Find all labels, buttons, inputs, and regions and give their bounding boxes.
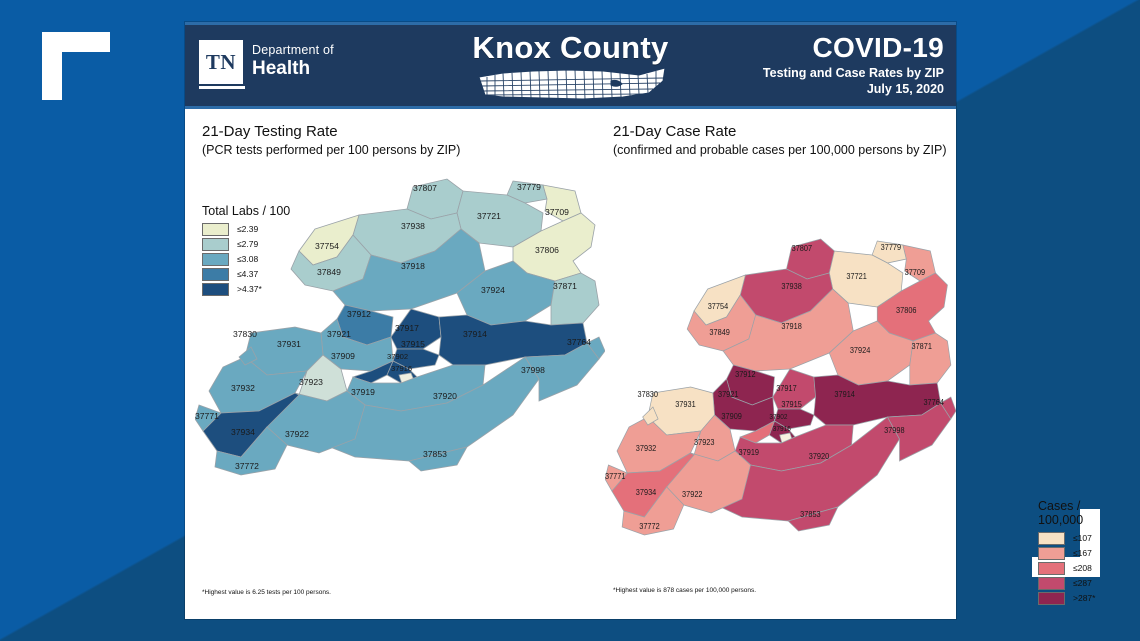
zip-label-37772: 37772 — [639, 521, 660, 531]
zip-label-37938: 37938 — [781, 281, 802, 291]
zip-label-37921: 37921 — [327, 329, 351, 339]
legend-item: >287* — [1038, 592, 1095, 605]
case-rate-title: 21-Day Case Rate — [613, 123, 958, 142]
zip-label-37779: 37779 — [517, 182, 541, 192]
zip-label-37923: 37923 — [299, 377, 323, 387]
logo-wordmark: Department of Health — [252, 44, 334, 79]
zip-label-37932: 37932 — [636, 443, 657, 453]
logo-department-line: Department of — [252, 44, 334, 58]
zip-label-37915: 37915 — [781, 399, 802, 409]
zip-label-37709: 37709 — [905, 267, 926, 277]
legend-label-4: >287* — [1073, 594, 1095, 603]
covid-title: COVID-19 — [763, 34, 944, 62]
zip-label-37849: 37849 — [317, 267, 341, 277]
zip-label-37921: 37921 — [718, 389, 739, 399]
tn-dept-health-logo: TN Department of Health — [199, 40, 334, 84]
legend-label-3: ≤287 — [1073, 579, 1092, 588]
zip-label-37849: 37849 — [709, 327, 730, 337]
zip-label-37772: 37772 — [235, 461, 259, 471]
legend-label-2: ≤208 — [1073, 564, 1092, 573]
legend-item: ≤208 — [1038, 562, 1095, 575]
zip-label-37807: 37807 — [413, 183, 437, 193]
logo-health-line: Health — [252, 59, 334, 79]
covid-subtitle: Testing and Case Rates by ZIP — [763, 66, 944, 82]
zip-label-37764: 37764 — [567, 337, 591, 347]
zip-label-37754: 37754 — [708, 301, 729, 311]
tn-logo-mark-icon: TN — [199, 40, 243, 84]
testing-rate-title: 21-Day Testing Rate — [202, 123, 592, 142]
zip-label-37806: 37806 — [535, 245, 559, 255]
case-rate-choropleth-map: 37807 37779 37709 37721 37806 37938 3775… — [605, 229, 956, 559]
zip-label-37771: 37771 — [605, 471, 626, 481]
zip-label-37771: 37771 — [195, 411, 219, 421]
zip-label-37932: 37932 — [231, 383, 255, 393]
testing-rate-titles: 21-Day Testing Rate (PCR tests performed… — [202, 123, 592, 158]
zip-label-37923: 37923 — [694, 437, 715, 447]
zip-label-37938: 37938 — [401, 221, 425, 231]
zip-label-37918: 37918 — [401, 261, 425, 271]
report-date: July 15, 2020 — [763, 82, 944, 98]
zip-label-37924: 37924 — [481, 285, 505, 295]
zip-label-37931: 37931 — [277, 339, 301, 349]
legend-item: ≤107 — [1038, 532, 1095, 545]
zip-label-37764: 37764 — [923, 397, 944, 407]
zip-label-37914: 37914 — [834, 389, 855, 399]
zip-label-37917: 37917 — [395, 323, 419, 333]
zip-label-37902: 37902 — [769, 414, 787, 422]
zip-label-37853: 37853 — [423, 449, 447, 459]
tn-logo-text: TN — [206, 52, 236, 73]
poster-header: TN Department of Health Knox County — [185, 22, 956, 109]
zip-label-37871: 37871 — [553, 281, 577, 291]
zip-label-37721: 37721 — [846, 271, 867, 281]
zip-label-37934: 37934 — [636, 487, 657, 497]
legend-item: ≤167 — [1038, 547, 1095, 560]
zip-label-37924: 37924 — [850, 345, 871, 355]
zip-label-37916: 37916 — [391, 364, 412, 373]
legend-swatch-4 — [1038, 592, 1065, 605]
testing-rate-footnote: *Highest value is 6.25 tests per 100 per… — [202, 589, 331, 596]
zip-label-37830: 37830 — [233, 329, 257, 339]
case-rate-footnote: *Highest value is 878 cases per 100,000 … — [613, 587, 756, 594]
zip-label-37998: 37998 — [521, 365, 545, 375]
zip-label-37919: 37919 — [351, 387, 375, 397]
case-legend-title: Cases / 100,000 — [1038, 499, 1095, 527]
legend-item: ≤287 — [1038, 577, 1095, 590]
header-right-block: COVID-19 Testing and Case Rates by ZIP J… — [763, 34, 944, 97]
zip-label-37934: 37934 — [231, 427, 255, 437]
legend-swatch-2 — [1038, 562, 1065, 575]
zip-label-37919: 37919 — [739, 447, 760, 457]
zip-label-37807: 37807 — [792, 243, 813, 253]
zip-label-37917: 37917 — [776, 383, 797, 393]
infographic-poster: TN Department of Health Knox County — [185, 22, 956, 619]
poster-body: 21-Day Testing Rate (PCR tests performed… — [185, 109, 956, 622]
zip-label-37909: 37909 — [721, 411, 742, 421]
legend-swatch-0 — [1038, 532, 1065, 545]
zip-label-37916: 37916 — [773, 426, 791, 434]
zip-label-37902: 37902 — [387, 352, 408, 361]
case-rate-legend: Cases / 100,000 ≤107 ≤167 ≤208 ≤287 — [1038, 499, 1095, 607]
zip-label-37922: 37922 — [285, 429, 309, 439]
zip-label-37912: 37912 — [735, 369, 756, 379]
zip-label-37721: 37721 — [477, 211, 501, 221]
zip-label-37871: 37871 — [911, 341, 932, 351]
case-rate-subtitle: (confirmed and probable cases per 100,00… — [613, 142, 958, 158]
legend-label-1: ≤167 — [1073, 549, 1092, 558]
legend-label-0: ≤107 — [1073, 534, 1092, 543]
zip-label-37909: 37909 — [331, 351, 355, 361]
zip-label-37754: 37754 — [315, 241, 339, 251]
zip-label-37830: 37830 — [638, 389, 659, 399]
zip-label-37709: 37709 — [545, 207, 569, 217]
header-top-accent — [185, 22, 956, 25]
legend-swatch-3 — [1038, 577, 1065, 590]
zip-label-37912: 37912 — [347, 309, 371, 319]
zip-label-37920: 37920 — [433, 391, 457, 401]
zip-label-37918: 37918 — [781, 321, 802, 331]
zip-label-37915: 37915 — [401, 339, 425, 349]
zip-label-37914: 37914 — [463, 329, 487, 339]
zip-label-37853: 37853 — [800, 509, 821, 519]
legend-swatch-1 — [1038, 547, 1065, 560]
case-rate-titles: 21-Day Case Rate (confirmed and probable… — [613, 123, 958, 158]
testing-rate-subtitle: (PCR tests performed per 100 persons by … — [202, 142, 592, 158]
zip-label-37931: 37931 — [675, 399, 696, 409]
zip-label-37920: 37920 — [809, 451, 830, 461]
zip-label-37922: 37922 — [682, 489, 703, 499]
zip-label-37806: 37806 — [896, 305, 917, 315]
testing-rate-choropleth-map: 37807 37779 37709 37721 37806 37938 3775… — [195, 169, 605, 499]
corner-bracket-top-left-vertical — [42, 32, 62, 100]
zip-label-37998: 37998 — [884, 425, 905, 435]
zip-label-37779: 37779 — [881, 242, 902, 252]
